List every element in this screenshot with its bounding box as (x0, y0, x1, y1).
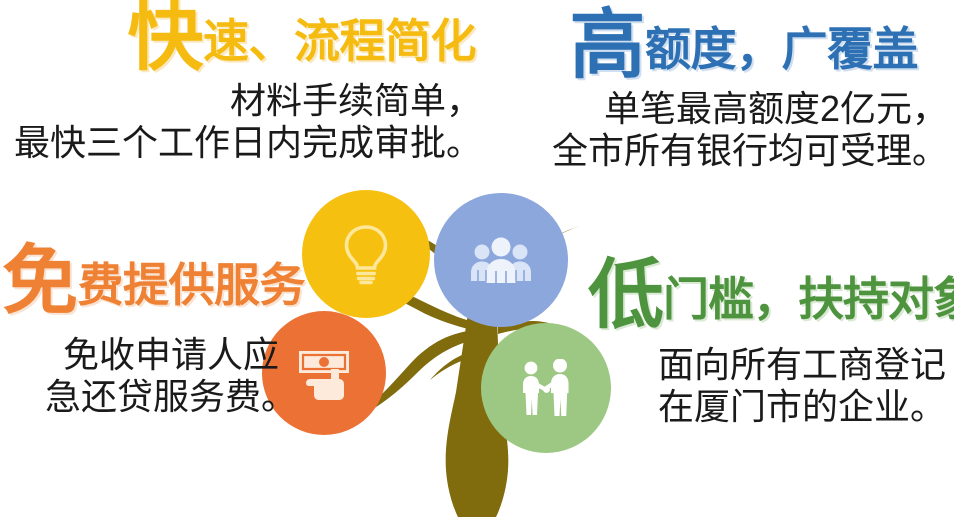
headline-high-rest: 额度，广覆盖 (645, 23, 918, 75)
headline-free: 免费提供服务 (2, 244, 318, 320)
quadrant-high: 高额度，广覆盖 单笔最高额度2亿元， 全市所有银行均可受理。 (520, 8, 954, 172)
headline-low-rest: 门槛，扶持对象广 (663, 273, 954, 325)
body-high-line-2: 全市所有银行均可受理。 (520, 130, 948, 172)
body-fast-line-2: 最快三个工作日内完成审批。 (0, 122, 482, 164)
body-high-line-1: 单笔最高额度2亿元， (520, 88, 948, 130)
quadrant-free: 免费提供服务 免收申请人应 急还贷服务费。 (0, 244, 318, 418)
headline-fast: 快速、流程简化 (0, 0, 476, 76)
headline-free-big: 免 (2, 239, 78, 324)
lightbulb-icon (339, 223, 393, 285)
quadrant-low: 低门槛，扶持对象广 面向所有工商登记 在厦门市的企业。 (588, 258, 954, 428)
headline-fast-big: 快 (128, 0, 204, 80)
body-low-line-1: 面向所有工商登记 (588, 344, 946, 386)
headline-high: 高额度，广覆盖 (520, 8, 918, 84)
headline-fast-rest: 速、流程简化 (203, 15, 476, 67)
body-low-line-2: 在厦门市的企业。 (588, 386, 946, 428)
headline-high-big: 高 (570, 3, 646, 88)
body-free-line-2: 急还贷服务费。 (24, 376, 318, 418)
node-circle-idea (302, 190, 430, 318)
quadrant-fast: 快速、流程简化 材料手续简单， 最快三个工作日内完成审批。 (0, 0, 492, 164)
infographic-canvas: 快速、流程简化 材料手续简单， 最快三个工作日内完成审批。 高额度，广覆盖 单笔… (0, 0, 954, 517)
body-free: 免收申请人应 急还贷服务费。 (0, 334, 318, 418)
handshake-people-icon (515, 359, 577, 417)
headline-low: 低门槛，扶持对象广 (588, 258, 954, 334)
headline-free-rest: 费提供服务 (78, 259, 306, 311)
body-fast-line-1: 材料手续简单， (0, 80, 482, 122)
people-group-icon (470, 236, 532, 284)
headline-low-big: 低 (588, 253, 663, 338)
body-free-line-1: 免收申请人应 (24, 334, 318, 376)
node-circle-group (434, 193, 568, 327)
